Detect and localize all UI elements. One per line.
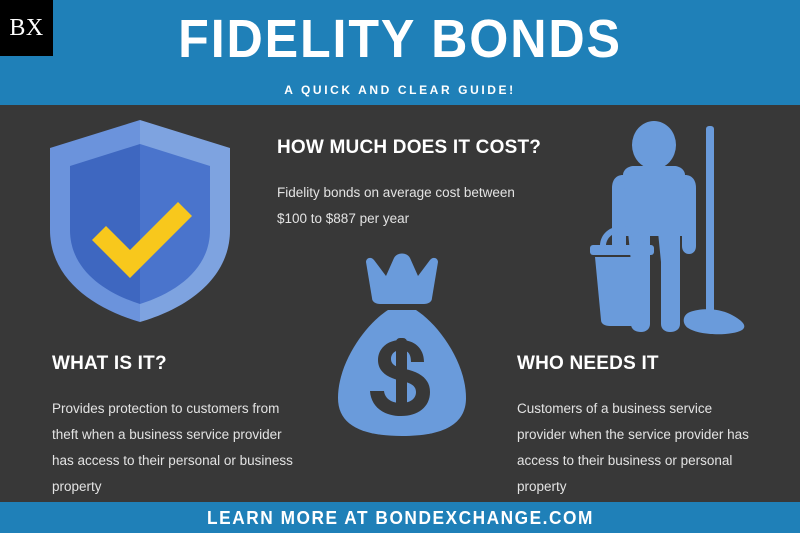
who-section-body: Customers of a business service provider…	[517, 396, 755, 500]
cost-section-heading: HOW MUCH DOES IT COST?	[277, 137, 541, 159]
header-banner: BX FIDELITY BONDS A QUICK AND CLEAR GUID…	[0, 0, 800, 105]
footer-cta-banner[interactable]: LEARN MORE AT BONDEXCHANGE.COM	[0, 502, 800, 533]
what-section-body: Provides protection to customers from th…	[52, 396, 294, 500]
cost-section-body: Fidelity bonds on average cost between $…	[277, 180, 537, 232]
page-subtitle: A QUICK AND CLEAR GUIDE!	[0, 83, 800, 97]
who-section-heading: WHO NEEDS IT	[517, 353, 659, 375]
page-title: FIDELITY BONDS	[28, 8, 772, 70]
what-section-heading: WHAT IS IT?	[52, 353, 167, 375]
janitor-with-bucket-and-mop-icon	[578, 112, 754, 338]
shield-check-icon	[42, 118, 238, 324]
infographic-canvas: BX FIDELITY BONDS A QUICK AND CLEAR GUID…	[0, 0, 800, 533]
footer-cta-text: LEARN MORE AT BONDEXCHANGE.COM	[207, 508, 594, 528]
money-bag-dollar-icon	[332, 252, 472, 442]
